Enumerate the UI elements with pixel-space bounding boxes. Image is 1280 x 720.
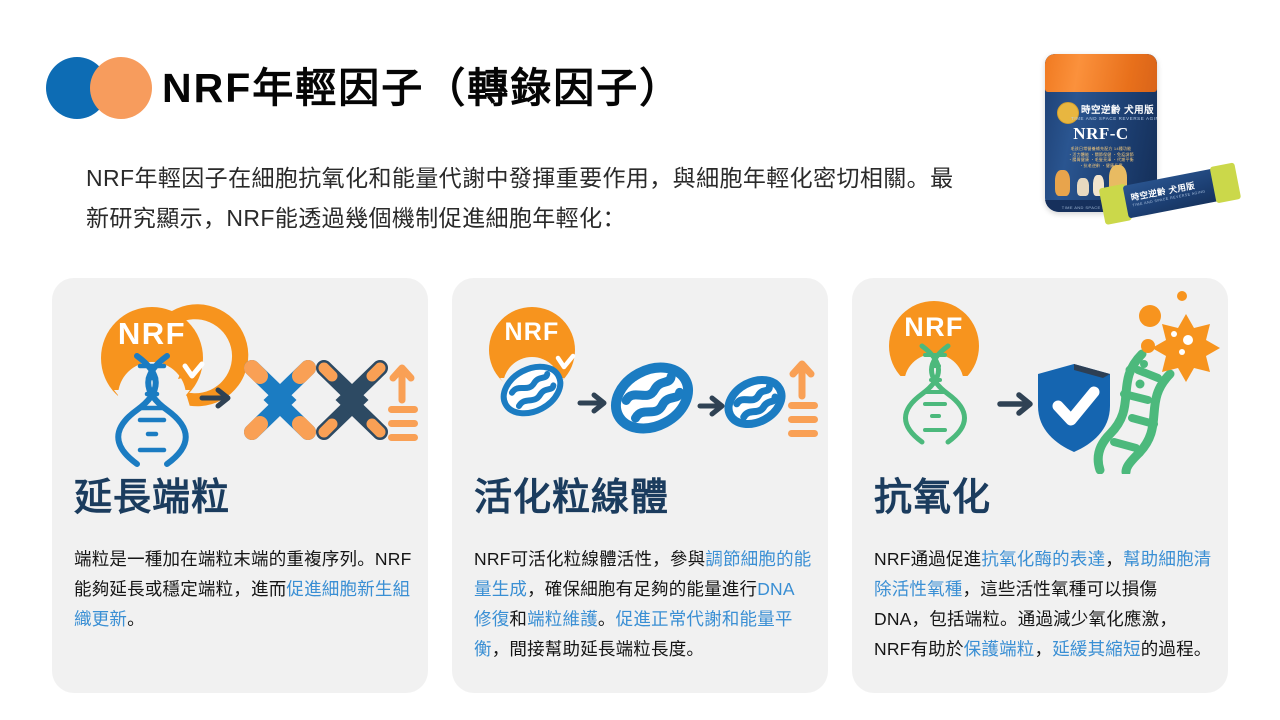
nrf-badge-label-1: NRF: [118, 316, 186, 351]
card2-svg: NRF: [452, 278, 828, 474]
card-body: NRF通過促進抗氧化酶的表達，幫助細胞清除活性氧種，這些活性氧種可以損傷DNA，…: [874, 544, 1212, 664]
body-text-run: ，確保細胞有足夠的能量進行: [527, 579, 757, 599]
brand-circle-orange-icon: [90, 57, 152, 119]
body-text-run: NRF可活化粒線體活性，參與: [474, 549, 705, 569]
brand-logo: [46, 57, 158, 119]
card-body: 端粒是一種加在端粒末端的重複序列。NRF能夠延長或穩定端粒，進而促進細胞新生組織…: [74, 544, 412, 634]
jar-brand-label: 時空逆齡 犬用版: [1081, 102, 1154, 116]
nrf-badge-label-2: NRF: [505, 318, 560, 346]
body-text-run: NRF通過促進: [874, 549, 981, 569]
intro-paragraph: NRF年輕因子在細胞抗氧化和能量代謝中發揮重要作用，與細胞年輕化密切相關。最新研…: [86, 158, 966, 238]
body-text-run: 。: [598, 609, 616, 629]
card3-svg: NRF: [852, 278, 1228, 474]
nrf-mitochondria-icon: NRF: [452, 278, 828, 474]
page-title: NRF年輕因子（轉錄因子）: [162, 62, 682, 114]
card-mitochondria[interactable]: NRF 活化粒線體 NRF可活化粒線體活性，參與調節細胞的能量生成，確保細胞有足…: [452, 278, 828, 693]
body-text-run: ，: [1105, 549, 1123, 569]
card-body: NRF可活化粒線體活性，參與調節細胞的能量生成，確保細胞有足夠的能量進行DNA修…: [474, 544, 812, 664]
body-text-run: 。: [127, 609, 145, 629]
highlighted-phrase: 端粒維護: [527, 609, 598, 629]
highlighted-phrase: 延緩其縮短: [1052, 639, 1141, 659]
body-text-run: ，間接幫助延長端粒長度。: [492, 639, 704, 659]
card1-svg: NRF: [52, 278, 428, 474]
body-text-run: ，: [1034, 639, 1052, 659]
nrf-shield-dna-icon: NRF: [852, 278, 1228, 474]
card-title: 延長端粒: [74, 474, 230, 522]
product-photo: 時空逆齡 犬用版 TIME AND SPACE REVERSE AGING NR…: [1025, 48, 1245, 238]
body-text-run: 和: [509, 609, 527, 629]
highlighted-phrase: 保護端粒: [964, 639, 1035, 659]
jar-brand-en-label: TIME AND SPACE REVERSE AGING: [1071, 116, 1157, 121]
card-title: 活化粒線體: [474, 474, 669, 522]
highlighted-phrase: 抗氧化酶的表達: [981, 549, 1105, 569]
mechanism-cards: NRF 延長端粒 端粒是一種加在端粒末端的重複序列。NRF能夠延長或穩定端粒，進…: [0, 278, 1280, 698]
card-title: 抗氧化: [874, 474, 991, 522]
nrf-dna-chromosome-icon: NRF: [52, 278, 428, 474]
body-text-run: 的過程。: [1141, 639, 1212, 659]
card-antioxidant[interactable]: NRF 抗氧化 NRF通過促進抗氧化酶的表達，幫助細胞清除活性氧種，這些活性氧種…: [852, 278, 1228, 693]
jar-lid: [1045, 54, 1157, 92]
jar-product-name-label: NRF-C: [1045, 124, 1157, 144]
nrf-badge-label-3: NRF: [904, 312, 963, 342]
card-telomere[interactable]: NRF 延長端粒 端粒是一種加在端粒末端的重複序列。NRF能夠延長或穩定端粒，進…: [52, 278, 428, 693]
